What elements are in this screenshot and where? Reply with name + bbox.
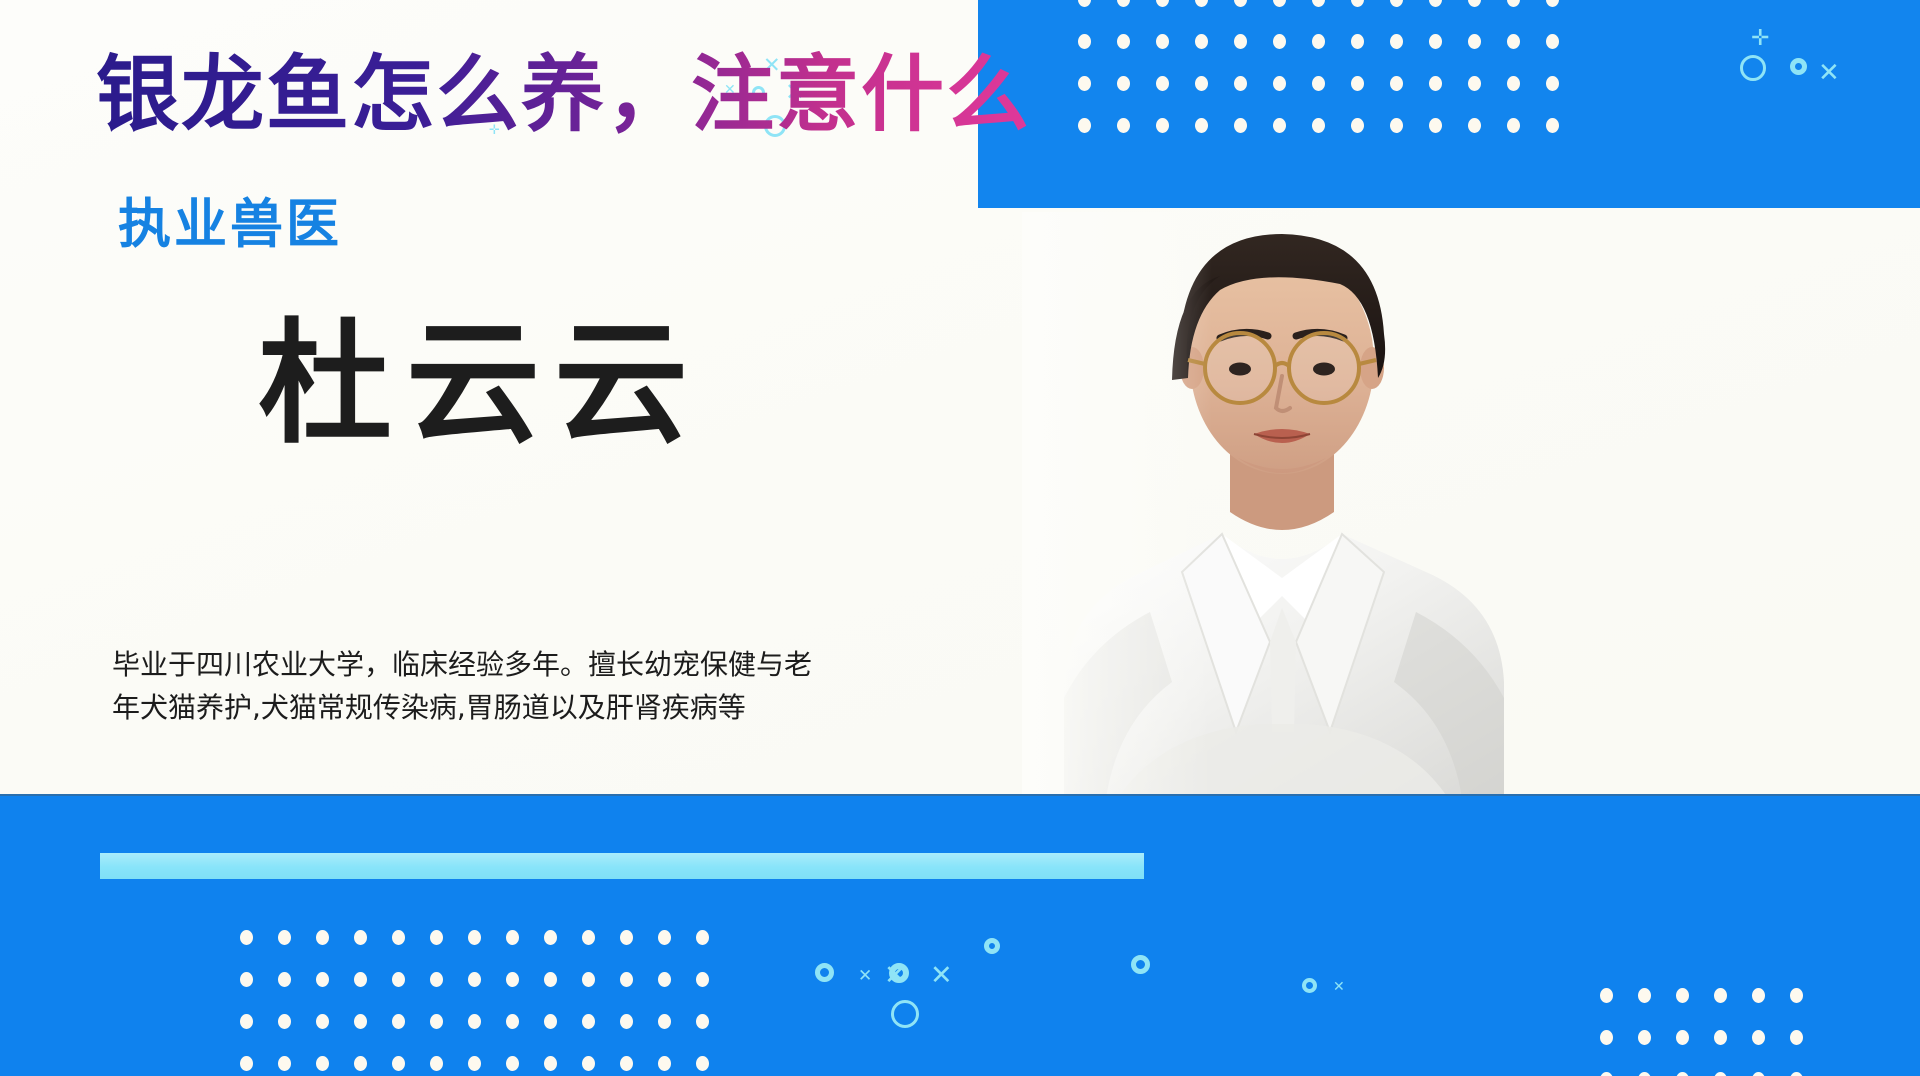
portrait-illustration [1022,212,1542,798]
circle-ring-small-icon [1790,58,1807,75]
circle-ring-small-icon [889,963,909,983]
circle-ring-small-icon [984,938,1000,954]
credential-label: 执业兽医 [118,182,342,258]
presenter-name: 杜云云 [258,275,702,469]
page-title: 银龙鱼怎么养，注意什么 [96,27,1031,147]
circle-ring-icon [891,1000,919,1028]
circle-ring-small-icon [1131,955,1150,974]
cyan-accent-bar [100,853,1144,879]
x-mark-small-icon: ✕ [858,968,872,985]
presenter-bio: 毕业于四川农业大学，临床经验多年。擅长幼宠保健与老年犬猫养护,犬猫常规传染病,胃… [112,644,832,729]
presenter-portrait [1022,212,1542,798]
x-mark-icon: ✕ [1818,60,1840,86]
circle-ring-small-icon [1302,978,1317,993]
circle-ring-icon [1740,55,1766,81]
x-mark-icon: ✕ [930,962,953,989]
x-mark-small-icon: ✕ [1333,980,1345,994]
circle-ring-small-icon [815,963,834,982]
top-right-blue-panel [978,0,1920,208]
bottom-blue-band [0,794,1920,1076]
presentation-slide: ✛ ✕ ✕ ✕ ✕ ✛ ✛ 银龙鱼怎么养，注意什么 执业兽医 杜云云 毕业于四川… [0,0,1920,1076]
plus-mark-icon: ✛ [1751,28,1769,50]
